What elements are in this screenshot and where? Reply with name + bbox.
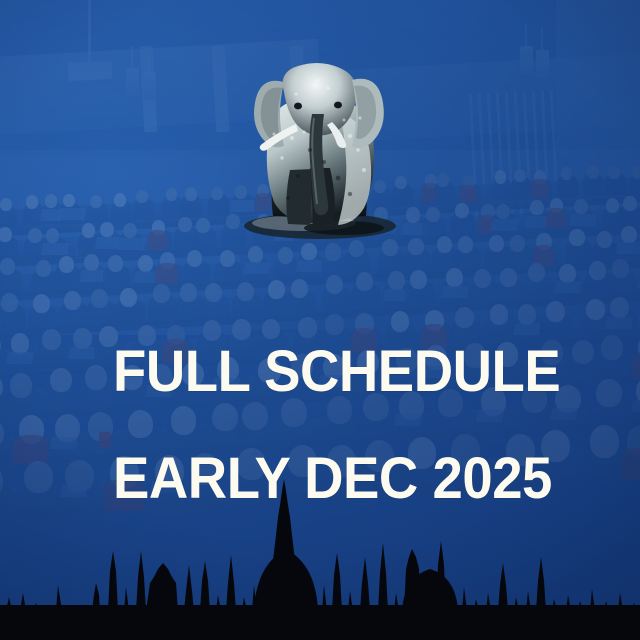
skyline-silhouette — [0, 465, 640, 640]
announcement-card: FULL SCHEDULE EARLY DEC 2025 — [0, 0, 640, 640]
headline-line-1: FULL SCHEDULE — [113, 345, 560, 398]
elephant-icon — [232, 58, 408, 244]
